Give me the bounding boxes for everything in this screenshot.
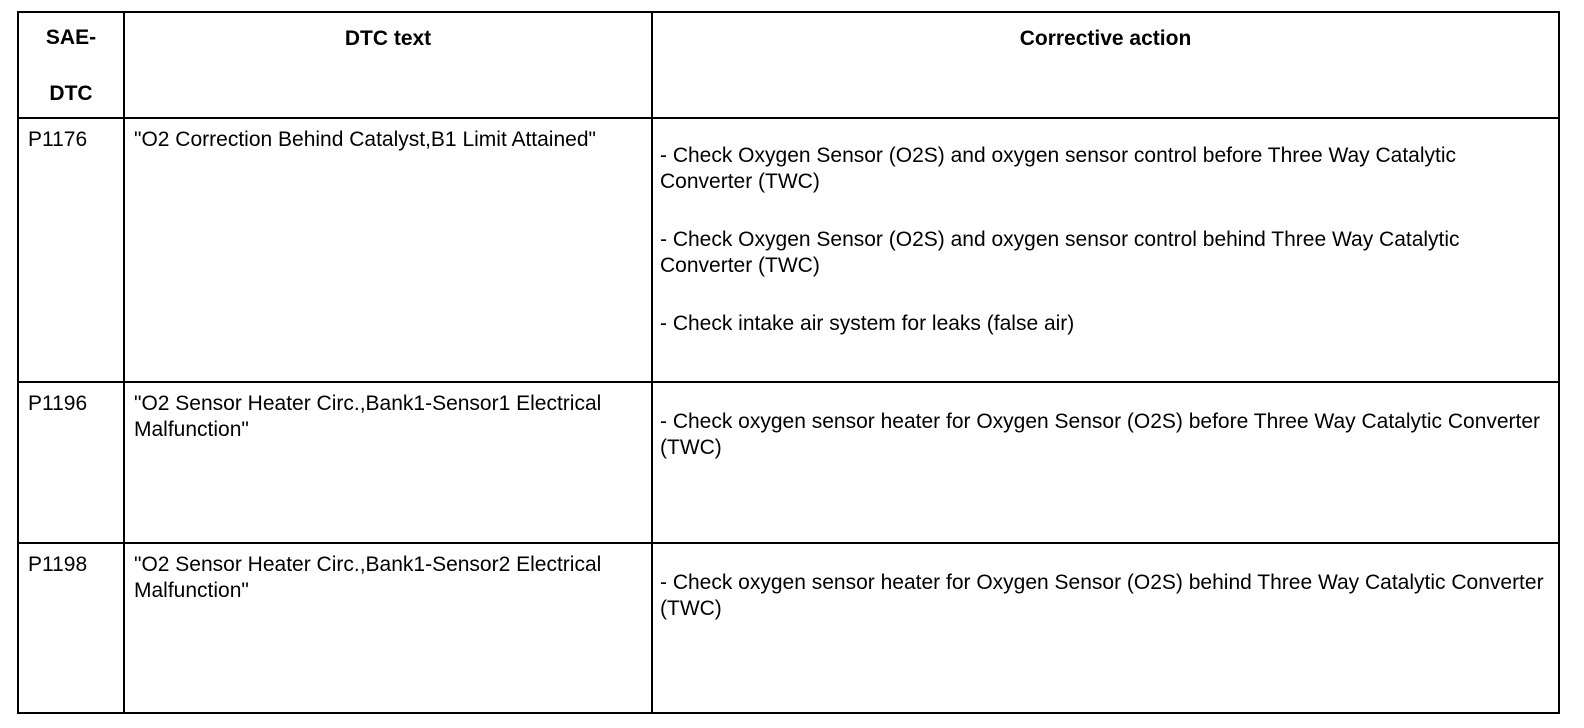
cell-dtc-text: "O2 Sensor Heater Circ.,Bank1-Sensor1 El… [124, 382, 652, 543]
corrective-action-item: - Check oxygen sensor heater for Oxygen … [660, 409, 1548, 460]
cell-dtc-text: "O2 Correction Behind Catalyst,B1 Limit … [124, 118, 652, 382]
cell-dtc-text: "O2 Sensor Heater Circ.,Bank1-Sensor2 El… [124, 543, 652, 713]
table-header: SAE- DTC DTC text Corrective action [18, 12, 1559, 118]
dtc-corrective-action-table: SAE- DTC DTC text Corrective action P117… [17, 11, 1560, 714]
column-header-sae-dtc: SAE- DTC [18, 12, 124, 118]
dtc-text-value: "O2 Sensor Heater Circ.,Bank1-Sensor1 El… [125, 383, 651, 448]
column-header-dtc-text: DTC text [124, 12, 652, 118]
corrective-action-item: - Check oxygen sensor heater for Oxygen … [660, 570, 1548, 621]
sae-dtc-code: P1198 [19, 544, 123, 584]
cell-corrective-action: - Check Oxygen Sensor (O2S) and oxygen s… [652, 118, 1559, 382]
column-header-corrective-action: Corrective action [652, 12, 1559, 118]
dtc-text-value: "O2 Sensor Heater Circ.,Bank1-Sensor2 El… [125, 544, 651, 609]
cell-corrective-action: - Check oxygen sensor heater for Oxygen … [652, 543, 1559, 713]
document-page: SAE- DTC DTC text Corrective action P117… [0, 0, 1584, 728]
column-header-sae-dtc-line2: DTC [19, 81, 123, 107]
column-header-sae-dtc-line1: SAE- [19, 25, 123, 51]
sae-dtc-code: P1196 [19, 383, 123, 423]
corrective-action-item: - Check intake air system for leaks (fal… [660, 311, 1548, 337]
cell-corrective-action: - Check oxygen sensor heater for Oxygen … [652, 382, 1559, 543]
table-body: P1176 "O2 Correction Behind Catalyst,B1 … [18, 118, 1559, 713]
header-row: SAE- DTC DTC text Corrective action [18, 12, 1559, 118]
cell-sae-dtc: P1176 [18, 118, 124, 382]
sae-dtc-code: P1176 [19, 119, 123, 159]
table-row: P1198 "O2 Sensor Heater Circ.,Bank1-Sens… [18, 543, 1559, 713]
corrective-action-item: - Check Oxygen Sensor (O2S) and oxygen s… [660, 143, 1548, 194]
cell-sae-dtc: P1198 [18, 543, 124, 713]
corrective-action-item: - Check Oxygen Sensor (O2S) and oxygen s… [660, 227, 1548, 278]
column-header-dtc-text-label: DTC text [125, 13, 651, 52]
table-row: P1176 "O2 Correction Behind Catalyst,B1 … [18, 118, 1559, 382]
dtc-text-value: "O2 Correction Behind Catalyst,B1 Limit … [125, 119, 651, 159]
column-header-corrective-action-label: Corrective action [653, 13, 1558, 52]
table-row: P1196 "O2 Sensor Heater Circ.,Bank1-Sens… [18, 382, 1559, 543]
cell-sae-dtc: P1196 [18, 382, 124, 543]
